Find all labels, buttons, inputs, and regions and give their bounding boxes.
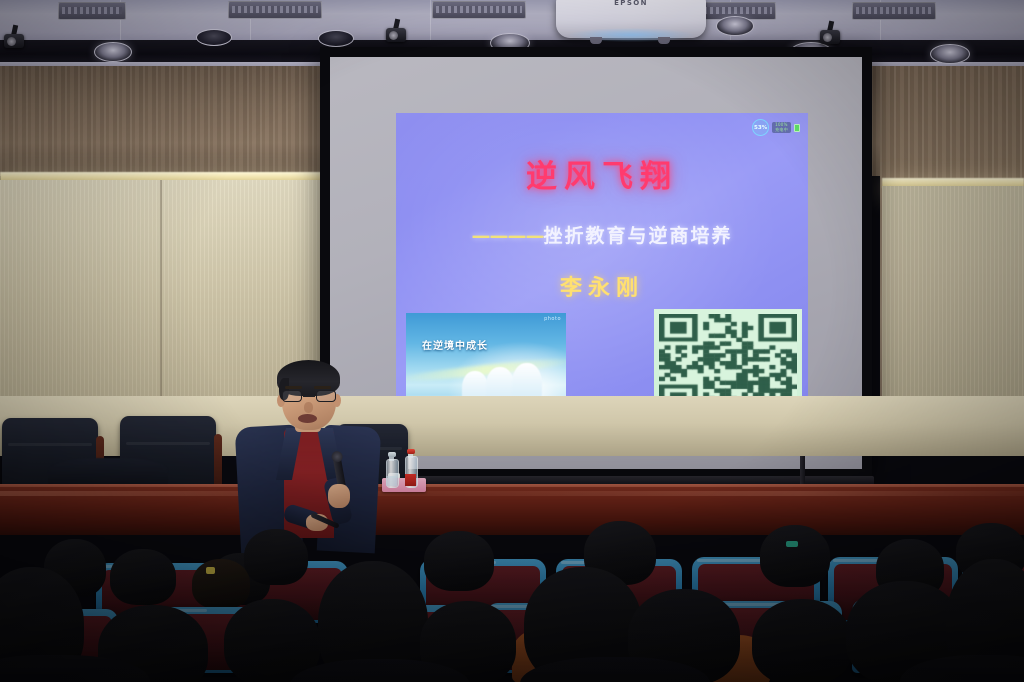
slide-author-name: 李永刚 <box>396 270 808 302</box>
ceiling-downlight <box>318 30 354 47</box>
slide-subtitle-dash: ———— <box>471 225 543 247</box>
hair-clip <box>206 567 215 574</box>
table-gloss-reflection <box>0 491 1024 496</box>
charge-status-pill: 100% 充电中 <box>772 122 791 133</box>
bottle-cap-red <box>407 449 415 454</box>
ceiling-vent <box>228 1 322 19</box>
projector-mount-foot <box>590 37 602 44</box>
ceiling-vent <box>432 1 526 19</box>
audience-seating-area <box>0 505 1024 682</box>
thumbnail-logo: photo <box>544 316 561 322</box>
projector-mount-foot <box>658 37 670 44</box>
ceiling-downlight <box>930 44 970 64</box>
slide-title: 逆风飞翔 <box>396 151 808 196</box>
projector-lens-glow <box>568 28 694 42</box>
eyebrow-left <box>285 386 302 389</box>
charge-line-2: 充电中 <box>775 128 788 132</box>
ceiling-downlight <box>196 29 232 46</box>
water-bottle-right <box>405 452 417 488</box>
nose <box>304 402 313 413</box>
audience-head <box>192 559 250 609</box>
eyeglasses-icon <box>282 390 336 402</box>
projector-brand-label: EPSON <box>614 0 648 7</box>
slide-subtitle: ————挫折教育与逆商培养 <box>396 221 808 248</box>
audience-head <box>424 531 494 591</box>
ceiling-downlight <box>94 42 132 62</box>
ceiling-downlight <box>716 16 754 36</box>
ceiling-mounted-projector: EPSON <box>556 0 706 38</box>
thumbnail-caption: 在逆境中成长 <box>422 337 488 352</box>
ceiling-vent <box>58 2 126 20</box>
eyebrow-right <box>314 386 331 389</box>
mouth <box>298 414 317 423</box>
audience-head <box>752 599 852 682</box>
lecture-hall-photo: EPSON 53% 100% 充电中 逆风飞翔 ————挫折教育与逆商培养 李永… <box>0 0 1024 682</box>
wall-panel-seam <box>160 180 162 398</box>
audience-head <box>244 529 308 585</box>
glasses-lens-left <box>282 390 302 402</box>
wall-panel-right <box>882 186 1024 398</box>
glasses-lens-right <box>316 390 336 402</box>
audience-head <box>760 525 830 587</box>
bottle-label-red <box>405 474 416 486</box>
hair-clip <box>786 541 798 547</box>
audience-head <box>110 549 176 605</box>
ceiling-vent <box>852 2 936 20</box>
glasses-bridge <box>303 395 315 397</box>
projected-slide: 53% 100% 充电中 逆风飞翔 ————挫折教育与逆商培养 李永刚 phot… <box>396 113 808 418</box>
battery-icon <box>794 124 800 132</box>
battery-percent-ring: 53% <box>752 119 769 136</box>
slide-subtitle-text: 挫折教育与逆商培养 <box>543 225 732 247</box>
slide-status-badge: 53% 100% 充电中 <box>752 119 800 136</box>
